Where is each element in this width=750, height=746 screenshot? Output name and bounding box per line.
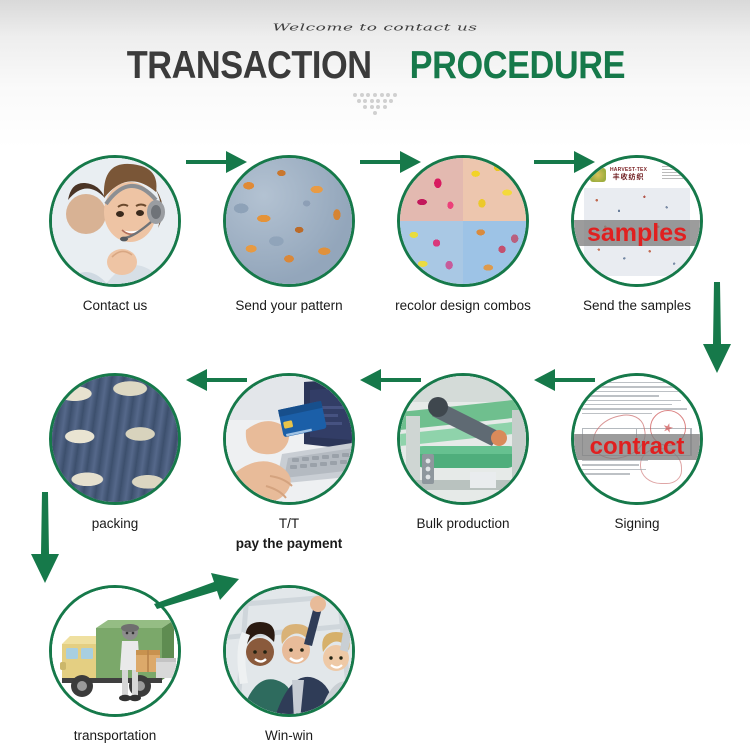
caption-line-1: Signing	[614, 516, 659, 531]
fabric-pattern-swatch	[226, 158, 352, 284]
brand-cn: 丰收纺织	[613, 174, 645, 181]
decor-dot	[383, 99, 387, 103]
decor-dot	[380, 93, 384, 97]
stamp-band-contract: contract	[574, 434, 700, 460]
decorative-dot-triangle	[0, 92, 750, 116]
combo-quadrant	[400, 221, 463, 284]
dot-row	[372, 110, 379, 116]
decor-dot	[373, 93, 377, 97]
step-caption-packing: packing	[41, 514, 189, 534]
step-packing[interactable]: packing	[41, 373, 189, 534]
step-caption-bulk-production: Bulk production	[389, 514, 537, 534]
title-main-word: TRANSACTION	[127, 46, 372, 85]
step-tt-payment[interactable]: T/Tpay the payment	[215, 373, 363, 553]
caption-line-1: Contact us	[83, 298, 148, 313]
arrow-recolor-to-samples	[534, 148, 596, 176]
step-caption-signing: Signing	[563, 514, 711, 534]
decor-dot	[373, 111, 377, 115]
caption-line-2: pay the payment	[236, 536, 343, 551]
card-payment-photo	[226, 376, 352, 502]
step-signing[interactable]: contractSigning	[563, 373, 711, 534]
decor-dot	[383, 105, 387, 109]
step-contact-us[interactable]: Contact us	[41, 155, 189, 316]
decor-dot	[357, 99, 361, 103]
infographic-canvas: Welcome to contact us TRANSACTIONPROCEDU…	[0, 0, 750, 745]
caption-line-1: T/T	[279, 516, 299, 531]
decor-dot	[366, 93, 370, 97]
title-accent-word: PROCEDURE	[409, 46, 624, 85]
combo-quadrant	[463, 158, 526, 221]
letterhead-brand: HARVEST-TEX 丰收纺织	[610, 168, 647, 182]
stamp-text-samples: samples	[587, 221, 687, 246]
letterhead-rule-lines	[662, 166, 688, 181]
contract-text-lines-lower	[582, 460, 692, 478]
caption-line-1: recolor design combos	[395, 298, 531, 313]
decor-dot	[363, 105, 367, 109]
page-title: TRANSACTIONPROCEDURE	[0, 46, 750, 85]
step-send-your-pattern[interactable]: Send your pattern	[215, 155, 363, 316]
arrow-packing-to-transport	[28, 492, 62, 584]
decor-dot	[376, 105, 380, 109]
caption-line-1: Send your pattern	[235, 298, 342, 313]
arrow-pattern-to-recolor	[360, 148, 422, 176]
arrow-samples-to-signing	[700, 282, 734, 374]
arrow-signing-to-bulk	[534, 366, 596, 394]
arrow-contact-to-pattern	[186, 148, 248, 176]
stamp-text-contract: contract	[590, 435, 685, 459]
step-caption-send-your-pattern: Send your pattern	[215, 296, 363, 316]
header-script-text: Welcome to contact us	[0, 22, 750, 33]
step-caption-recolor-combos: recolor design combos	[389, 296, 537, 316]
caption-line-1: transportation	[74, 728, 157, 743]
celebrating-team-photo	[226, 588, 352, 714]
decor-dot	[389, 99, 393, 103]
step-caption-transportation: transportation	[41, 726, 189, 746]
arrow-tt-to-packing	[186, 366, 248, 394]
recolor-combos-swatch	[400, 158, 526, 284]
bulk-production-machine-photo	[400, 376, 526, 502]
decor-dot	[360, 93, 364, 97]
step-caption-tt-payment: T/Tpay the payment	[215, 514, 363, 553]
caption-line-1: packing	[92, 516, 139, 531]
decor-dot	[386, 93, 390, 97]
step-caption-send-the-samples: Send the samples	[563, 296, 711, 316]
decor-dot	[363, 99, 367, 103]
step-caption-contact-us: Contact us	[41, 296, 189, 316]
caption-line-1: Send the samples	[583, 298, 691, 313]
arrow-bulk-to-tt	[360, 366, 422, 394]
decor-dot	[353, 93, 357, 97]
stamp-band-samples: samples	[574, 220, 700, 246]
step-circle-packing[interactable]	[49, 373, 181, 505]
header: Welcome to contact us TRANSACTIONPROCEDU…	[0, 0, 750, 140]
step-circle-win-win[interactable]	[223, 585, 355, 717]
step-send-the-samples[interactable]: HARVEST-TEX 丰收纺织 samplesSend the samples	[563, 155, 711, 316]
decor-dot	[393, 93, 397, 97]
caption-line-1: Win-win	[265, 728, 313, 743]
step-caption-win-win: Win-win	[215, 726, 363, 746]
packed-rolls-photo	[52, 376, 178, 502]
step-recolor-combos[interactable]: recolor design combos	[389, 155, 537, 316]
call-center-photo	[52, 158, 178, 284]
step-circle-contact-us[interactable]	[49, 155, 181, 287]
decor-dot	[370, 99, 374, 103]
caption-line-1: Bulk production	[416, 516, 509, 531]
decor-dot	[376, 99, 380, 103]
arrow-transport-to-winwin	[154, 570, 240, 610]
decor-dot	[370, 105, 374, 109]
brand-en: HARVEST-TEX	[610, 167, 647, 173]
combo-quadrant	[463, 221, 526, 284]
step-bulk-production[interactable]: Bulk production	[389, 373, 537, 534]
